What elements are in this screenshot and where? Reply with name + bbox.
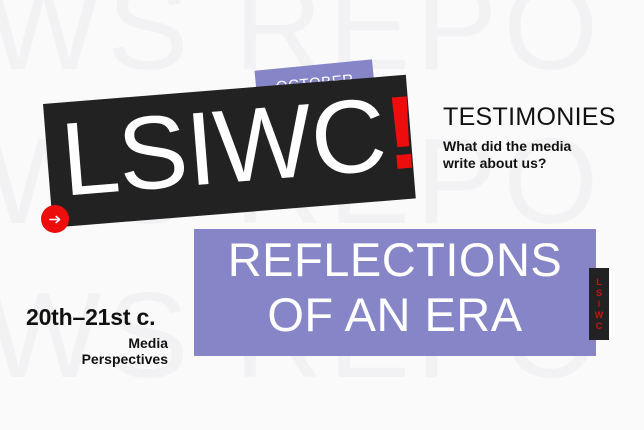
badge-letter: S xyxy=(596,289,602,298)
reflections-band: REFLECTIONS OF AN ERA xyxy=(194,229,596,356)
era-block: 20th–21st c. Media Perspectives xyxy=(26,305,168,367)
era-subtitle-line-2: Perspectives xyxy=(26,351,168,367)
badge-letter: W xyxy=(595,311,604,320)
hero-acronym: LSIWC xyxy=(57,77,390,219)
band-line-2: OF AN ERA xyxy=(194,288,596,343)
testimonies-subtitle-line-1: What did the media xyxy=(443,138,571,154)
testimonies-title: TESTIMONIES xyxy=(443,104,633,132)
vertical-lsiwc-badge: L S I W C xyxy=(589,268,609,340)
era-subtitle-line-1: Media xyxy=(26,335,168,351)
badge-letter: L xyxy=(596,278,602,287)
reflections-band-text: REFLECTIONS OF AN ERA xyxy=(194,233,596,343)
arrow-right-icon xyxy=(49,214,62,225)
badge-letter: I xyxy=(598,300,601,309)
arrow-right-button[interactable] xyxy=(41,205,69,233)
era-period: 20th–21st c. xyxy=(26,305,168,330)
hero-block: LSIWC! xyxy=(43,75,416,228)
band-line-1: REFLECTIONS xyxy=(194,233,596,288)
poster-canvas: WS REPO WS REPO WS REPO REFLECTIONS OF A… xyxy=(0,0,644,430)
testimonies-subtitle: What did the mediawrite about us? xyxy=(443,138,593,173)
hero-title: LSIWC! xyxy=(56,66,425,227)
hero-exclamation: ! xyxy=(380,74,424,192)
badge-letter: C xyxy=(596,322,603,331)
era-subtitle: Media Perspectives xyxy=(26,335,168,367)
testimonies-block: TESTIMONIES What did the mediawrite abou… xyxy=(443,104,633,172)
testimonies-subtitle-line-2: write about us? xyxy=(443,155,546,171)
